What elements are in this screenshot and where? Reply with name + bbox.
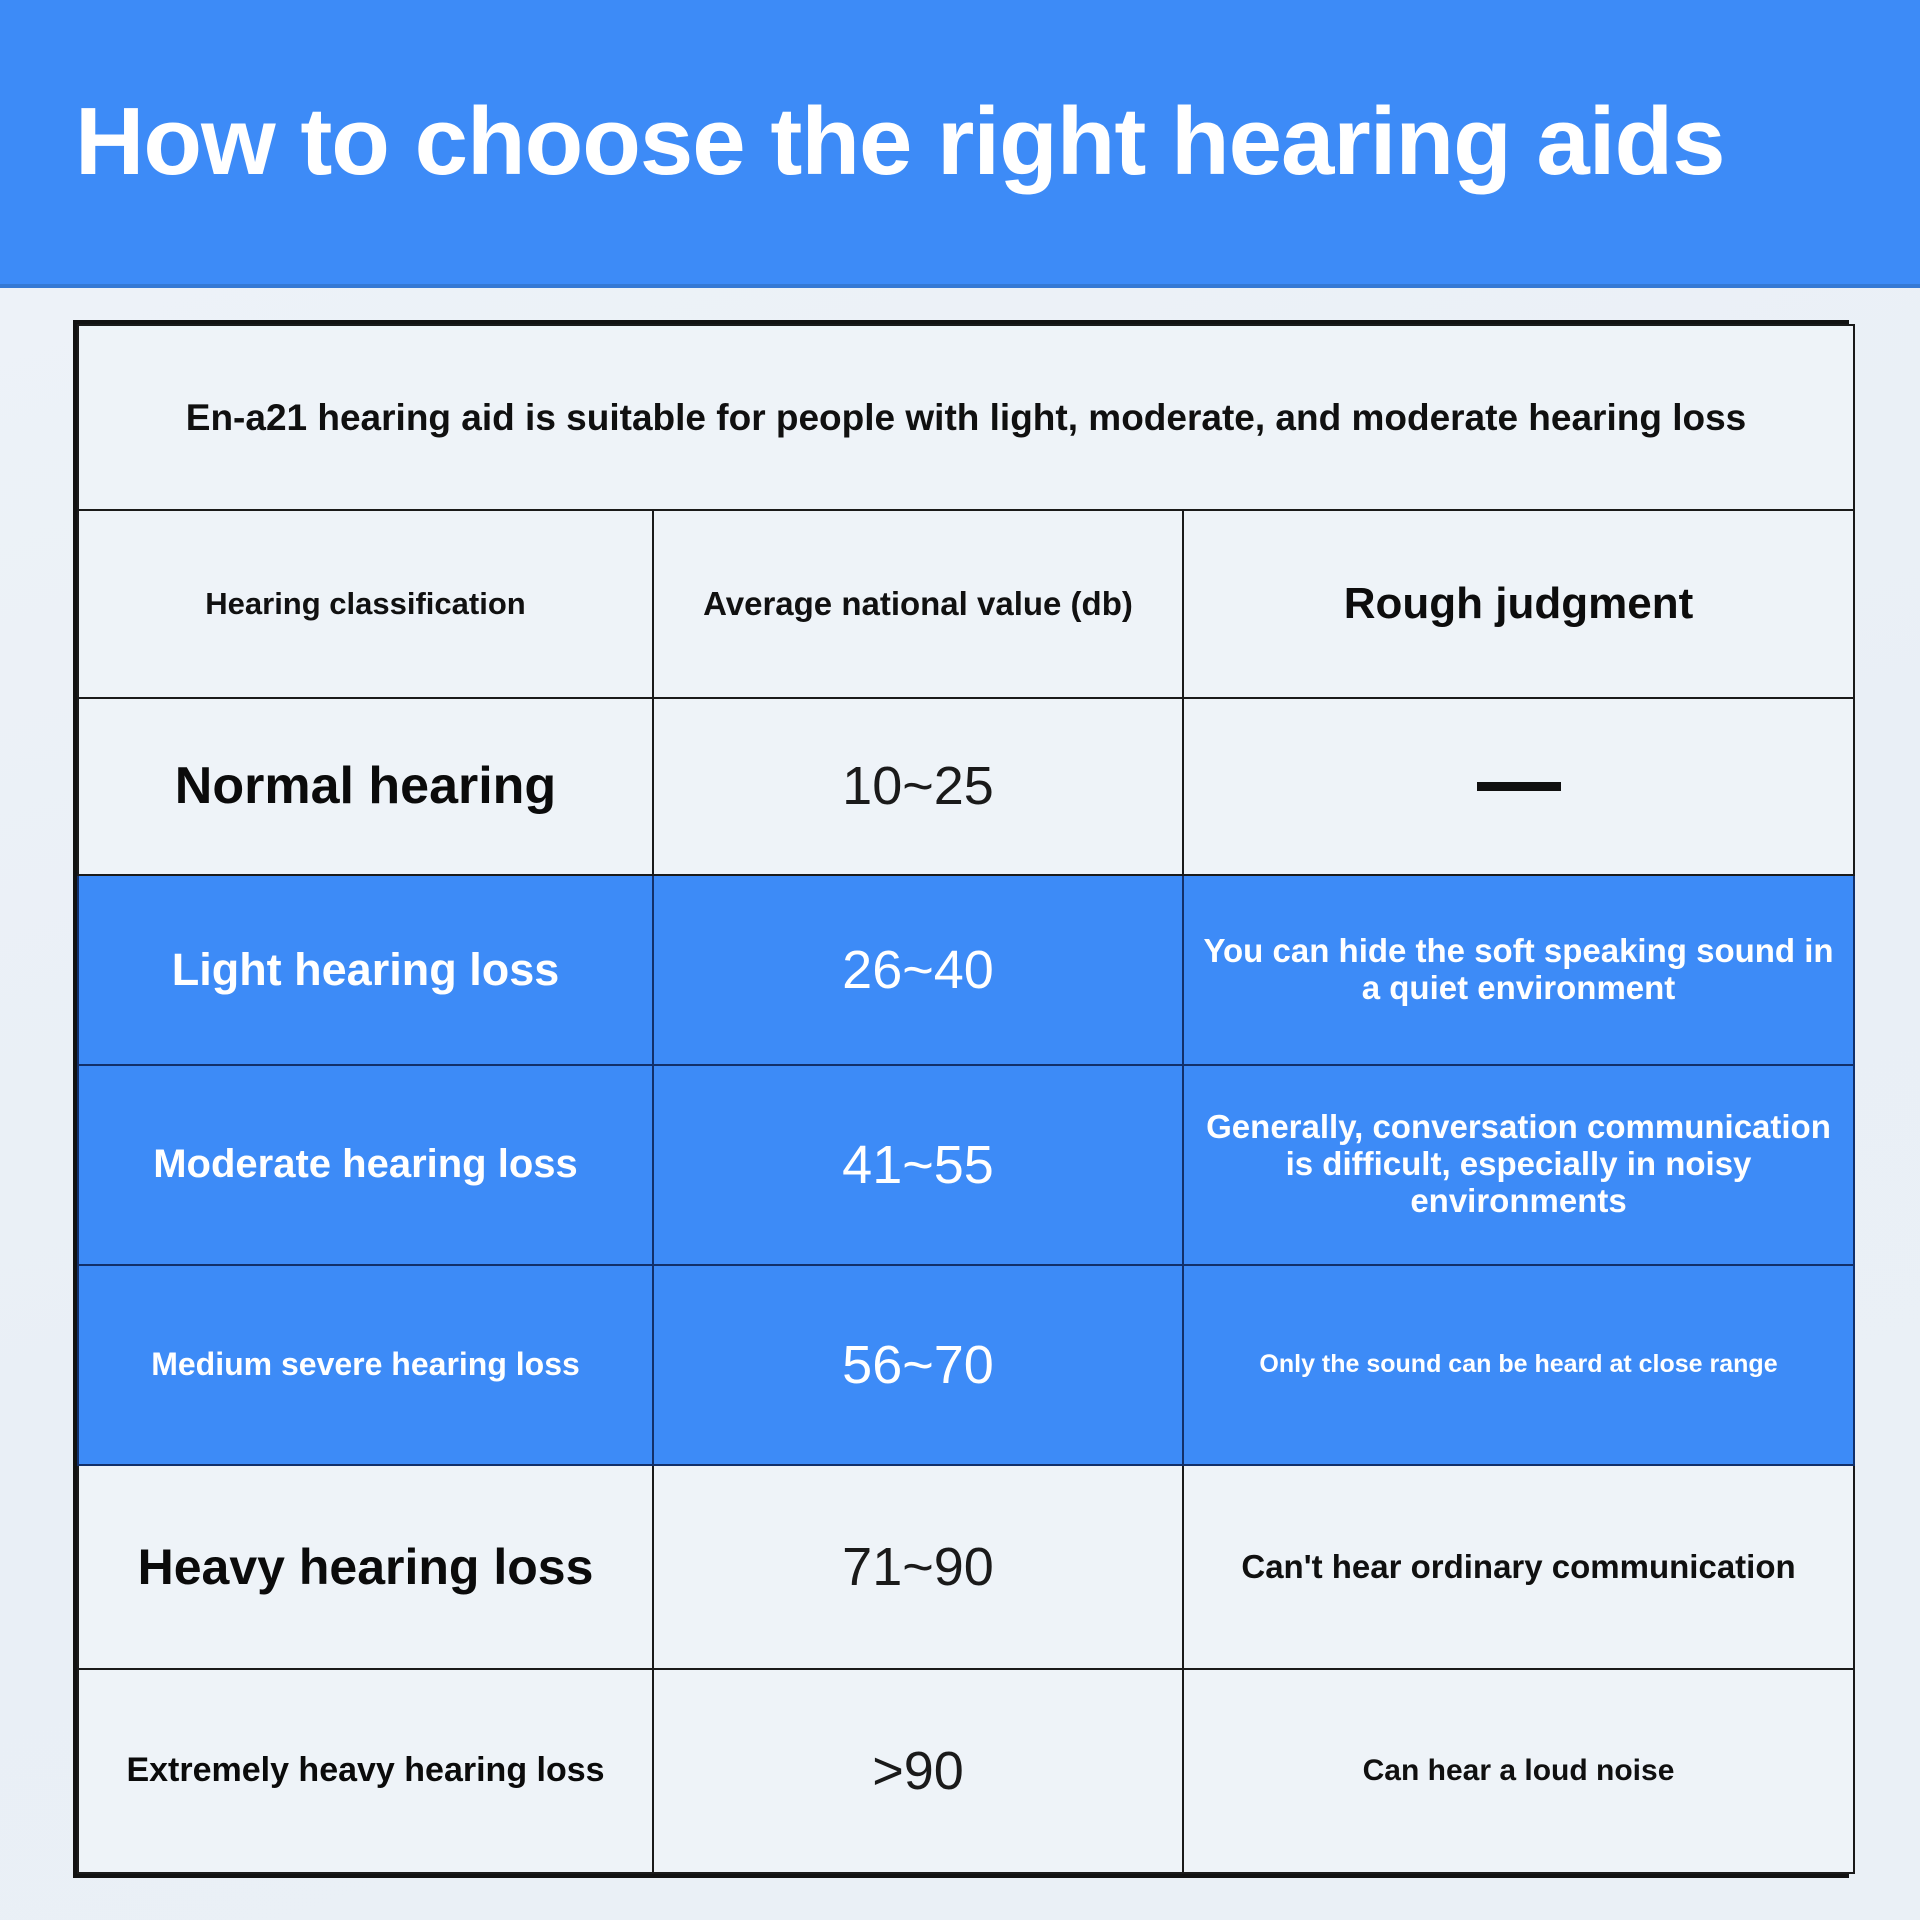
page-title: How to choose the right hearing aids	[0, 94, 1724, 190]
column-header-rough-judgment: Rough judgment	[1183, 510, 1854, 698]
poster-page: How to choose the right hearing aids En-…	[0, 0, 1920, 1920]
table-row-heavy-hearing-loss: Heavy hearing loss 71~90 Can't hear ordi…	[78, 1465, 1854, 1669]
cell-average-value: 56~70	[653, 1265, 1183, 1465]
cell-rough-judgment: Only the sound can be heard at close ran…	[1183, 1265, 1854, 1465]
table-row-light-hearing-loss: Light hearing loss 26~40 You can hide th…	[78, 875, 1854, 1065]
cell-classification: Moderate hearing loss	[78, 1065, 653, 1265]
table-row-extremely-heavy-hearing-loss: Extremely heavy hearing loss >90 Can hea…	[78, 1669, 1854, 1873]
hearing-classification-table: En-a21 hearing aid is suitable for peopl…	[73, 320, 1849, 1878]
cell-average-value: 41~55	[653, 1065, 1183, 1265]
table-row-normal-hearing: Normal hearing 10~25	[78, 698, 1854, 875]
table-row-moderate-hearing-loss: Moderate hearing loss 41~55 Generally, c…	[78, 1065, 1854, 1265]
cell-rough-judgment: You can hide the soft speaking sound in …	[1183, 875, 1854, 1065]
cell-classification: Heavy hearing loss	[78, 1465, 653, 1669]
cell-average-value: >90	[653, 1669, 1183, 1873]
intro-note: En-a21 hearing aid is suitable for peopl…	[78, 325, 1854, 510]
table-header-row: Hearing classification Average national …	[78, 510, 1854, 698]
cell-classification: Extremely heavy hearing loss	[78, 1669, 653, 1873]
cell-classification: Medium severe hearing loss	[78, 1265, 653, 1465]
column-header-classification: Hearing classification	[78, 510, 653, 698]
em-dash-icon	[1477, 782, 1561, 791]
cell-classification: Normal hearing	[78, 698, 653, 875]
table-row-medium-severe-hearing-loss: Medium severe hearing loss 56~70 Only th…	[78, 1265, 1854, 1465]
cell-average-value: 10~25	[653, 698, 1183, 875]
column-header-average-value: Average national value (db)	[653, 510, 1183, 698]
cell-rough-judgment: Generally, conversation communication is…	[1183, 1065, 1854, 1265]
cell-rough-judgment: Can hear a loud noise	[1183, 1669, 1854, 1873]
cell-average-value: 26~40	[653, 875, 1183, 1065]
cell-rough-judgment	[1183, 698, 1854, 875]
page-banner: How to choose the right hearing aids	[0, 0, 1920, 288]
table-row-intro: En-a21 hearing aid is suitable for peopl…	[78, 325, 1854, 510]
cell-rough-judgment: Can't hear ordinary communication	[1183, 1465, 1854, 1669]
cell-classification: Light hearing loss	[78, 875, 653, 1065]
cell-average-value: 71~90	[653, 1465, 1183, 1669]
